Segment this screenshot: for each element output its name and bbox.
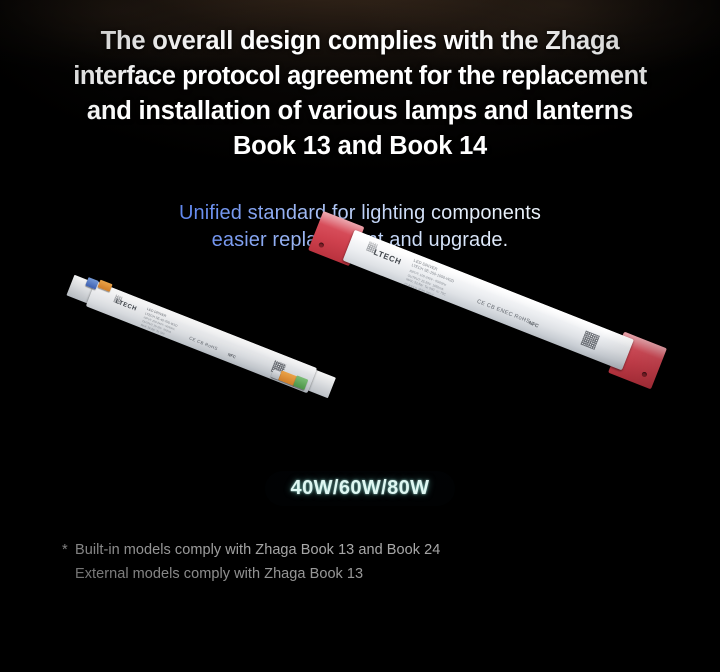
product-image-built-in-driver: LTECH LED DRIVER LTECH SE-40-700-W1D INP…	[53, 260, 347, 416]
footnote-text-1: Built-in models comply with Zhaga Book 1…	[75, 542, 440, 558]
footnote-line-1: *Built-in models comply with Zhaga Book …	[62, 538, 622, 562]
small-driver-cert-marks: CE CB RoHS	[188, 336, 218, 351]
page-title: The overall design complies with the Zha…	[0, 24, 720, 164]
footnote-line-2: External models comply with Zhaga Book 1…	[62, 562, 622, 586]
large-driver-label-title: LED DRIVER	[413, 259, 438, 272]
headline-line-1: The overall design complies with the Zha…	[12, 24, 708, 59]
large-driver-label-model: LTECH SE-150-1050-W2D	[411, 264, 455, 284]
power-rating-badge[interactable]: 40W/60W/80W	[265, 471, 456, 506]
footnote-marker: *	[62, 538, 75, 562]
large-driver-specs: INPUT: 100-240V~ 50/60Hz OUTPUT: 25-50V …	[403, 269, 449, 302]
headline-line-3: and installation of various lamps and la…	[12, 94, 708, 129]
large-driver-cert-marks: CE CB ENEC RoHS	[476, 300, 531, 326]
large-driver-brand: LTECH	[372, 249, 402, 267]
slide-root: The overall design complies with the Zha…	[0, 0, 720, 672]
power-badge-wrap: 40W/60W/80W	[0, 471, 720, 506]
large-driver-qr-code	[580, 330, 599, 349]
headline-line-2: interface protocol agreement for the rep…	[12, 59, 708, 94]
small-driver-label-model: LTECH SE-40-700-W1D	[144, 312, 177, 328]
power-rating-label: 40W/60W/80W	[291, 477, 430, 500]
footnote: *Built-in models comply with Zhaga Book …	[62, 538, 622, 586]
small-driver-specs: INPUT: 220-240V~ 50/60Hz OUTPUT: 25-42V …	[138, 316, 175, 343]
large-driver-mount-hole-left	[318, 242, 324, 248]
small-driver-label-title: LED DRIVER	[146, 308, 166, 319]
headline-line-4: Book 13 and Book 14	[12, 129, 708, 164]
small-driver-nfc-icon: NFC	[227, 353, 236, 360]
product-stage: LTECH LED DRIVER LTECH SE-40-700-W1D INP…	[0, 258, 720, 473]
large-driver-mount-hole-right	[641, 371, 647, 377]
